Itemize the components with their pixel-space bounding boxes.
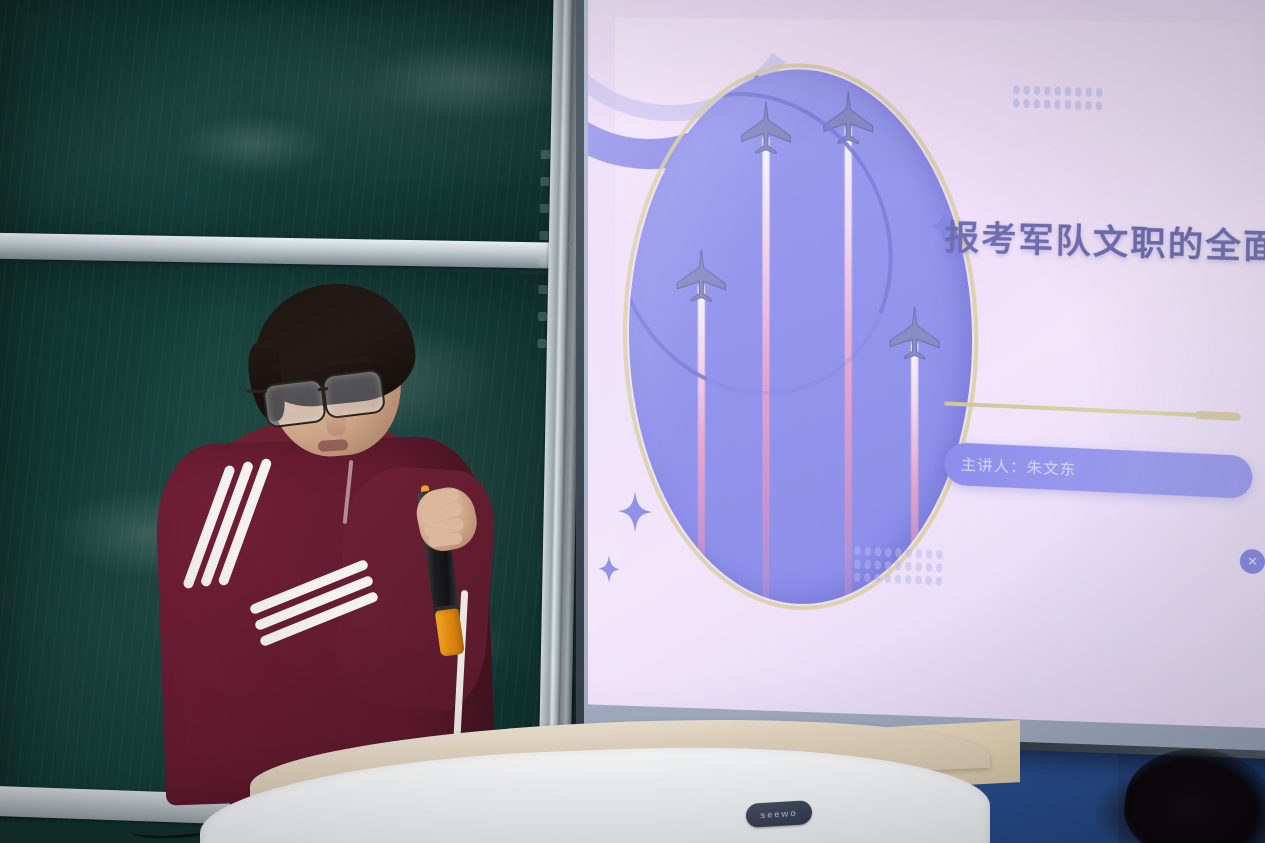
nose — [325, 409, 347, 437]
slide-title: 报考军队文职的全面介绍 — [944, 210, 1265, 272]
ellipse-body — [629, 67, 972, 608]
brand-badge: seewo — [746, 800, 813, 828]
board-marking-icon — [539, 204, 548, 213]
presenter — [150, 290, 570, 790]
classroom-scene: 报考军队文职的全面介绍 主讲人：朱文东 ✕ — [0, 0, 1265, 843]
mic-base — [435, 608, 465, 657]
chalkboard-upper-panel — [0, 0, 608, 251]
jet-ellipse-group — [629, 67, 972, 608]
presentation-slide[interactable]: 报考军队文职的全面介绍 主讲人：朱文东 ✕ — [588, 0, 1265, 729]
lens-left — [262, 378, 327, 429]
board-marking-icon — [540, 177, 549, 186]
close-icon[interactable]: ✕ — [1240, 548, 1265, 573]
chalk-smudge — [363, 40, 573, 123]
dot-grid-top — [1013, 85, 1102, 110]
screen-display-area[interactable]: 报考军队文职的全面介绍 主讲人：朱文东 ✕ — [588, 0, 1265, 729]
dot-grid-bottom — [854, 547, 943, 586]
lectern: seewo — [200, 722, 980, 843]
jet-plane-icon — [882, 306, 948, 360]
brand-badge-label: seewo — [760, 808, 798, 820]
sparkle-icon — [598, 554, 620, 583]
title-divider — [944, 401, 1238, 419]
interactive-whiteboard[interactable]: 报考军队文职的全面介绍 主讲人：朱文东 ✕ — [576, 0, 1265, 760]
mouth — [318, 439, 349, 452]
speaker-pill: 主讲人：朱文东 — [943, 442, 1252, 499]
speaker-label: 主讲人：朱文东 — [960, 453, 1076, 480]
board-marking-icon — [538, 258, 547, 267]
glasses-temple — [247, 390, 267, 393]
board-marking-icon — [540, 150, 549, 159]
sparkle-icon — [618, 490, 652, 533]
chalk-smudge — [180, 113, 330, 175]
board-marking-icon — [539, 231, 548, 240]
hoodie-right-arm — [332, 463, 498, 713]
